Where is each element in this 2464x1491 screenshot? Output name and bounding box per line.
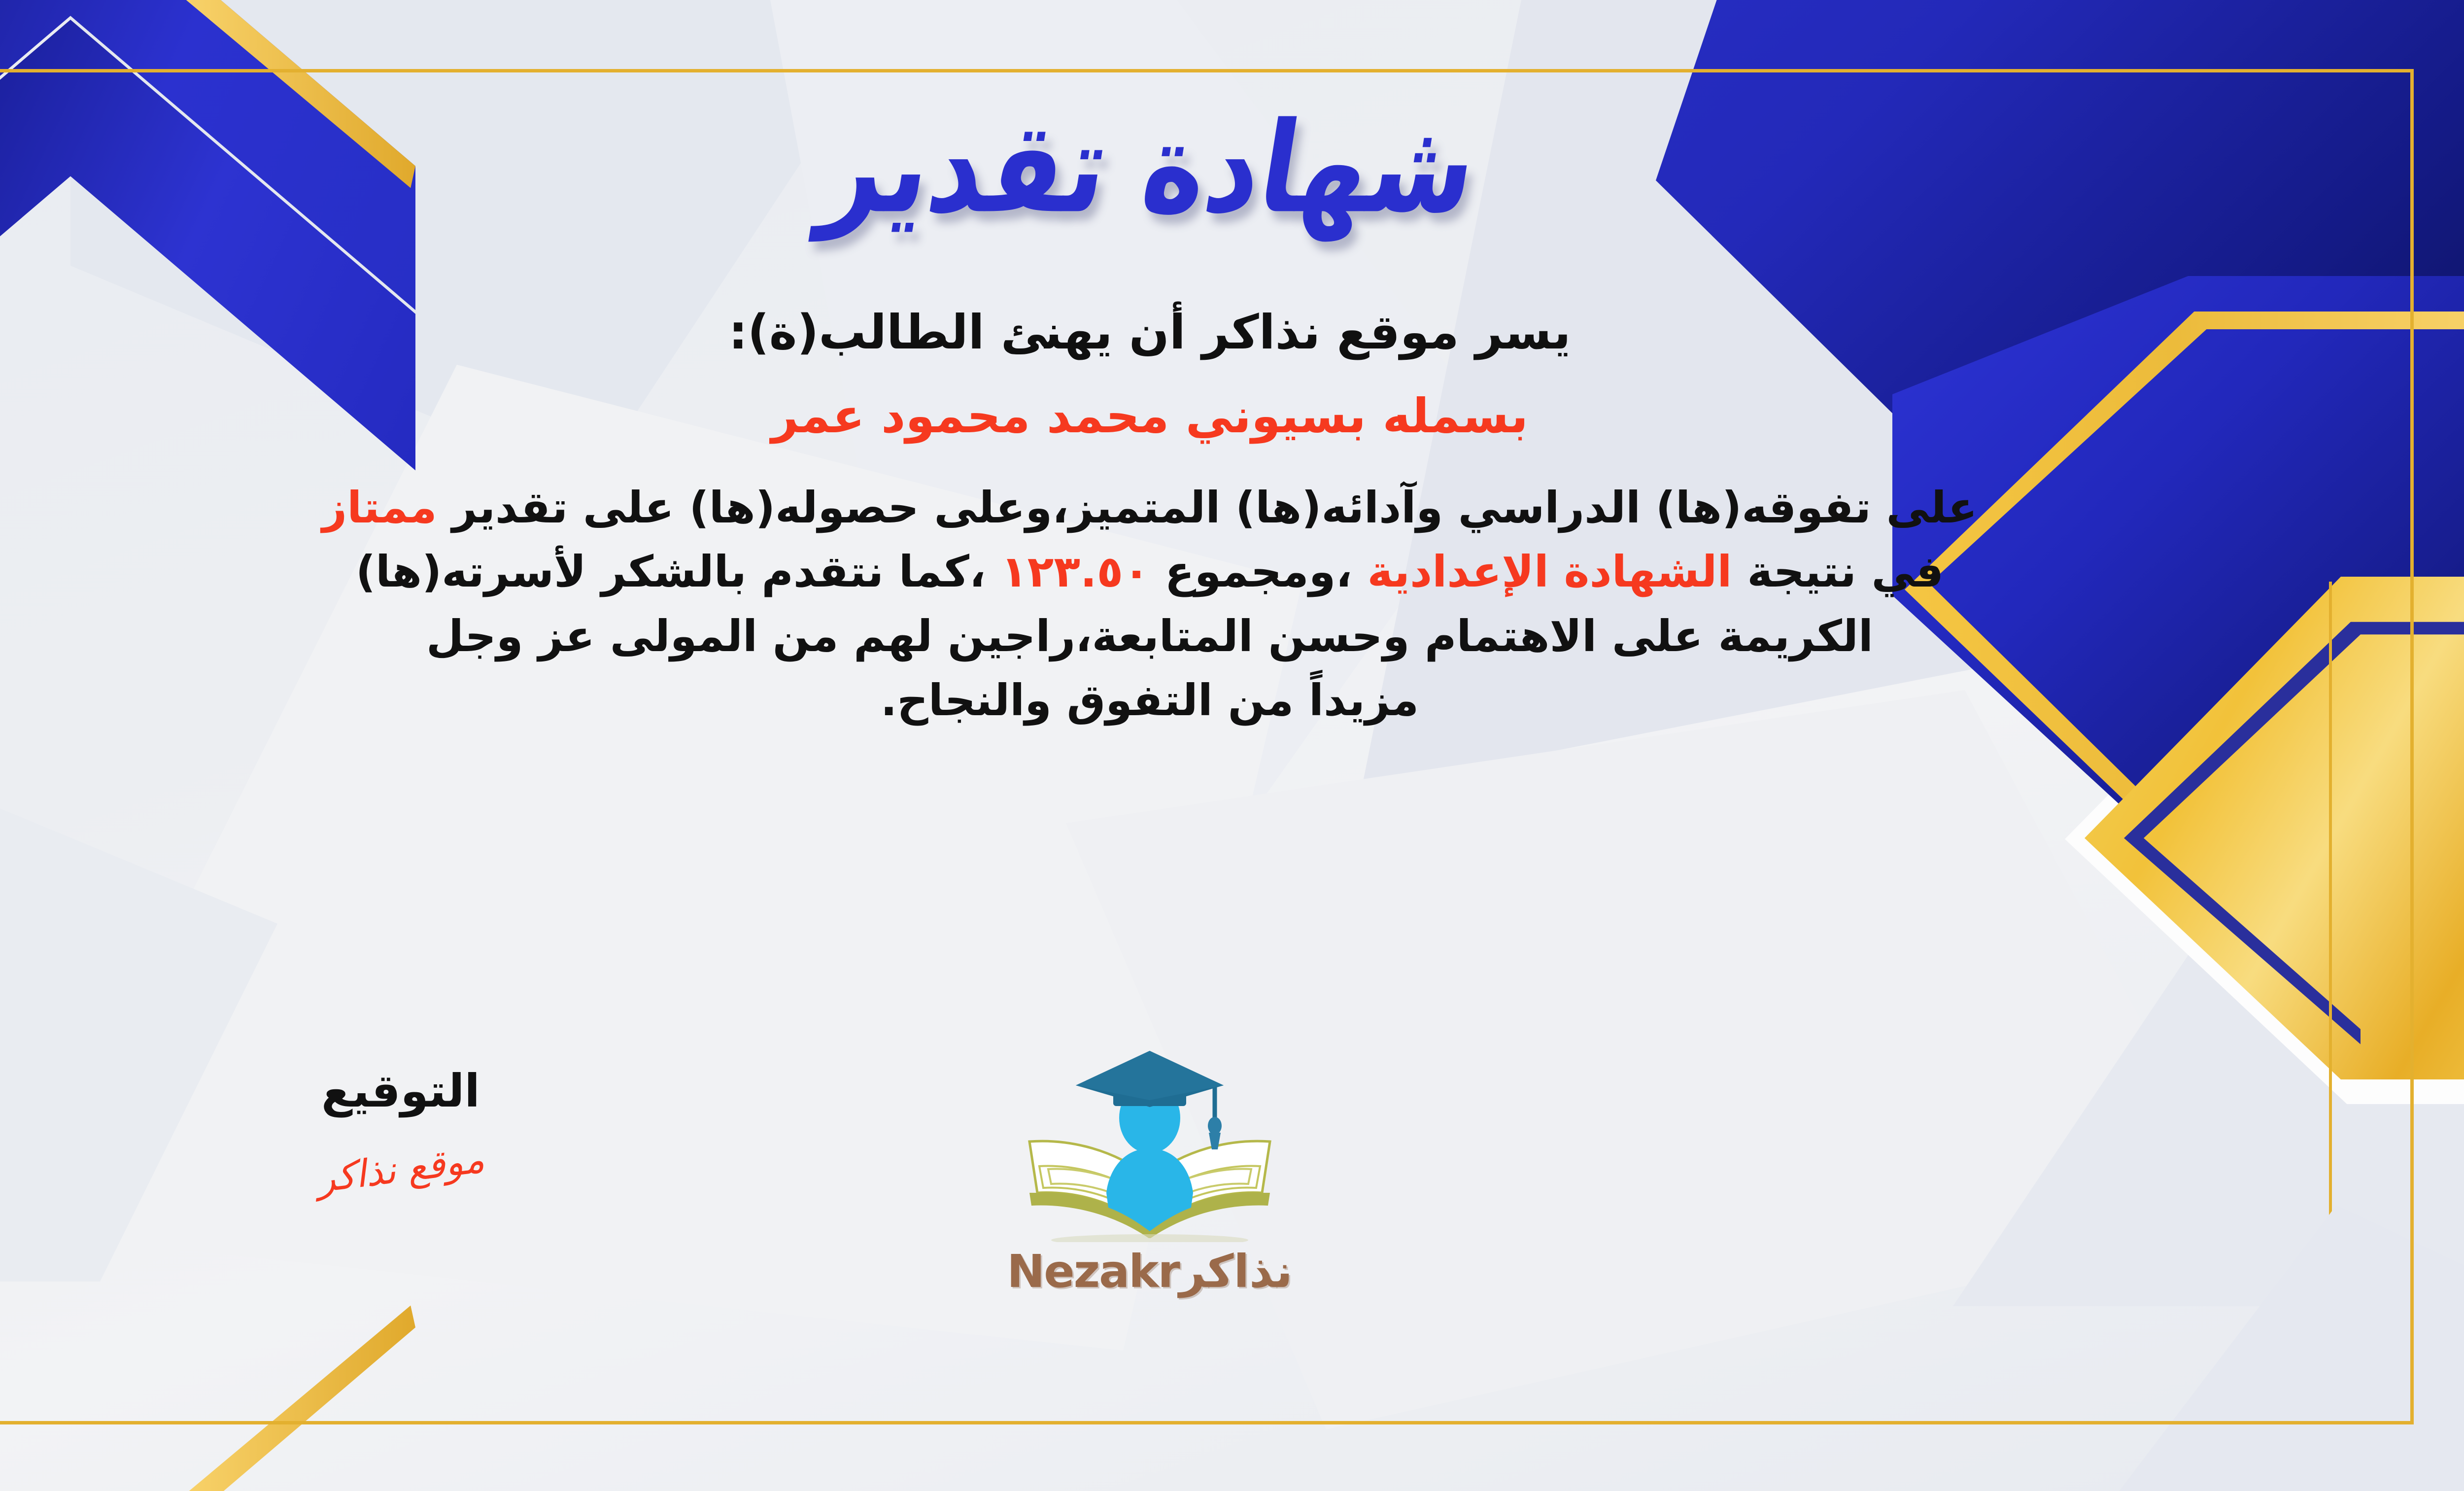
- achievement-paragraph: على تفوقه(ها) الدراسي وآدائه(ها) المتميز…: [0, 476, 2327, 732]
- score-value: ١٢٣.٥٠: [1001, 546, 1150, 597]
- certificate-body: يسر موقع نذاكر أن يهنئ الطالب(ة): بسمله …: [0, 301, 2327, 732]
- thanks-prefix: ،كما نتقدم بالشكر لأسرته(ها): [356, 546, 986, 597]
- exam-name: الشهادة الإعدادية: [1368, 546, 1732, 597]
- certificate-footer: التوقيع موقع نذاكر: [0, 1045, 2396, 1351]
- paragraph-line-4: في نتيجة الشهادة الإعدادية ،ومجموع ١٢٣.٥…: [0, 540, 2327, 604]
- greeting-line: يسر موقع نذاكر أن يهنئ الطالب(ة):: [0, 301, 2327, 365]
- certificate-canvas: شهادة تقدير يسر موقع نذاكر أن يهنئ الطال…: [0, 0, 2464, 1491]
- grade-value: ممتاز: [322, 482, 437, 533]
- certificate-title: شهادة تقدير: [813, 95, 1486, 241]
- graduate-book-logo-icon: [992, 1045, 1307, 1242]
- result-prefix: في نتيجة: [1747, 546, 1944, 597]
- total-label: ،ومجموع: [1165, 546, 1352, 597]
- brand-logo-block: نذاكرNezakr: [0, 1045, 2396, 1298]
- paragraph-line-5: الكريمة على الاهتمام وحسن المتابعة،راجين…: [0, 604, 2327, 668]
- certificate-content: شهادة تقدير يسر موقع نذاكر أن يهنئ الطال…: [0, 79, 2396, 1415]
- brand-logo-text: نذاكرNezakr: [1007, 1245, 1293, 1298]
- paragraph-line-6: مزيداً من التفوق والنجاح.: [0, 668, 2327, 732]
- certificate-title-area: شهادة تقدير: [824, 99, 1475, 237]
- paragraph-line-3: على تفوقه(ها) الدراسي وآدائه(ها) المتميز…: [0, 476, 2327, 540]
- achievement-text: على تفوقه(ها) الدراسي وآدائه(ها) المتميز…: [452, 482, 1977, 533]
- student-name: بسمله بسيوني محمد محمود عمر: [0, 384, 2327, 449]
